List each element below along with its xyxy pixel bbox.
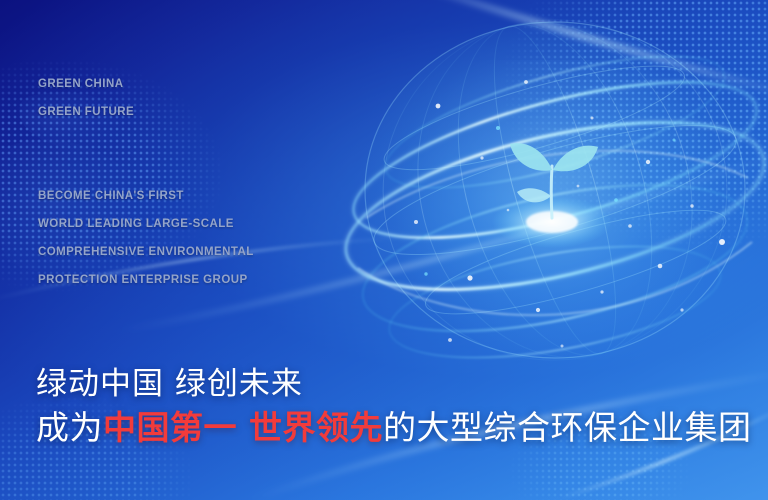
mission-line-3: COMPREHENSIVE ENVIRONMENTAL — [38, 238, 254, 266]
tagline-line-green-future: GREEN FUTURE — [38, 98, 134, 126]
mission-line-1: BECOME CHINA'S FIRST — [38, 182, 254, 210]
mission-line-4: PROTECTION ENTERPRISE GROUP — [38, 266, 254, 294]
headline-line-2: 成为中国第一 世界领先的大型综合环保企业集团 — [36, 406, 752, 450]
tagline-line-green-china: GREEN CHINA — [38, 70, 134, 98]
mission-line-2: WORLD LEADING LARGE-SCALE — [38, 210, 254, 238]
headline-line-1: 绿动中国 绿创未来 — [36, 364, 752, 404]
tagline-english-top: GREEN CHINA GREEN FUTURE — [38, 70, 134, 126]
green-china-hero-banner: GREEN CHINA GREEN FUTURE BECOME CHINA'S … — [0, 0, 768, 500]
headline-suffix: 的大型综合环保企业集团 — [383, 408, 752, 447]
headline-chinese: 绿动中国 绿创未来 成为中国第一 世界领先的大型综合环保企业集团 — [36, 364, 752, 450]
headline-prefix: 成为 — [36, 408, 103, 447]
mission-statement-english: BECOME CHINA'S FIRST WORLD LEADING LARGE… — [38, 182, 254, 294]
headline-highlight: 中国第一 世界领先 — [103, 408, 383, 447]
